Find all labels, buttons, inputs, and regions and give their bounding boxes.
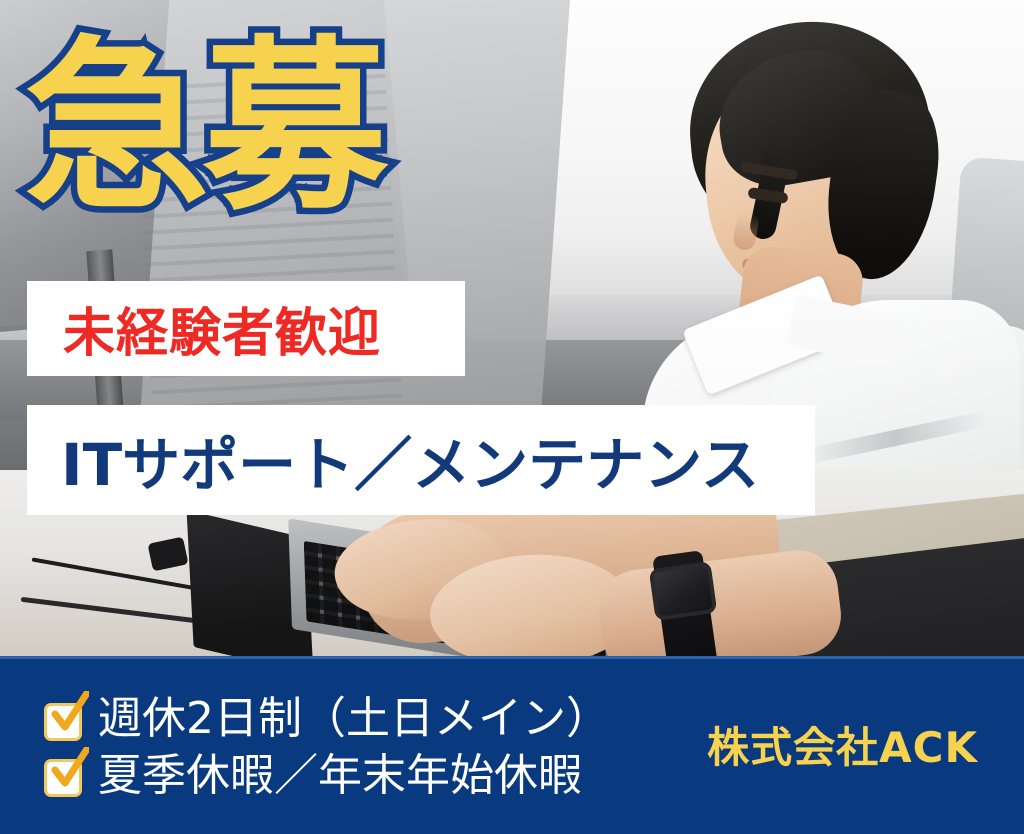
recruitment-banner: 急募 未経験者歓迎 ITサポート／メンテナンス 週休2日制（土日メイン）	[0, 0, 1024, 834]
checkbox-checked-icon	[44, 755, 86, 797]
company-name: 株式会社ACK	[707, 714, 978, 775]
badge-job-role: ITサポート／メンテナンス	[27, 405, 815, 515]
check-mark-icon	[49, 691, 89, 735]
perk-label: 週休2日制（土日メイン）	[98, 696, 610, 743]
perks-list: 週休2日制（土日メイン） 夏季休暇／年末年始休暇	[44, 696, 610, 799]
perk-item: 夏季休暇／年末年始休暇	[44, 753, 610, 800]
badge-job-role-label: ITサポート／メンテナンス	[61, 418, 759, 502]
badge-inexperienced-label: 未経験者歓迎	[63, 291, 381, 366]
headline-kyubo: 急募	[24, 18, 382, 236]
check-mark-icon	[49, 747, 89, 791]
perk-label: 夏季休暇／年末年始休暇	[98, 753, 582, 800]
perk-item: 週休2日制（土日メイン）	[44, 696, 610, 743]
badge-inexperienced-welcome: 未経験者歓迎	[27, 281, 465, 376]
wristwatch-icon	[649, 561, 718, 621]
checkbox-checked-icon	[44, 699, 86, 741]
